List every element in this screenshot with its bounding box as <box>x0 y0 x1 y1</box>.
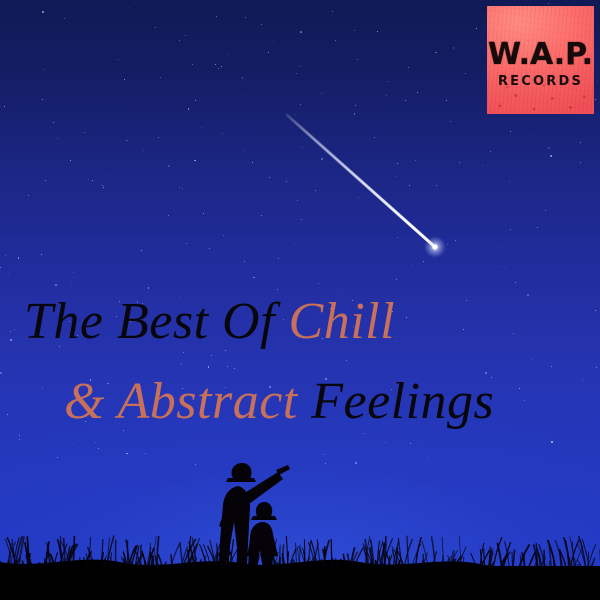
ground-solid <box>0 566 600 600</box>
logo-wordmark: W.A.P. <box>487 40 594 70</box>
album-cover-artwork: The Best Of Chill & Abstract Feelings W.… <box>0 0 600 600</box>
logo-sublabel: RECORDS <box>487 75 594 88</box>
wap-records-logo[interactable]: W.A.P. RECORDS <box>487 6 594 114</box>
